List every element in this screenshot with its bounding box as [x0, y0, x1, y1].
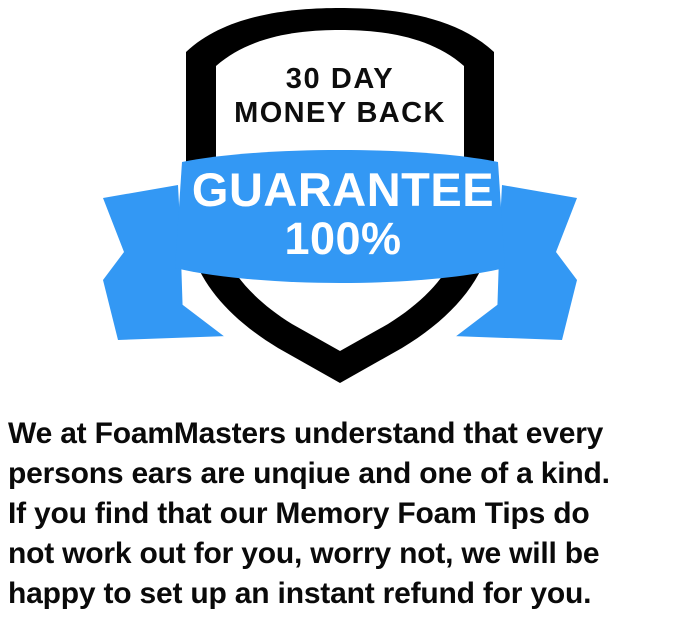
ribbon-label-percent: 100%: [284, 213, 401, 264]
copy-line: persons ears are unqiue and one of a kin…: [8, 454, 673, 494]
ribbon-label-guarantee: GUARANTEE: [192, 163, 494, 216]
badge-headline-line2: MONEY BACK: [234, 97, 446, 129]
guarantee-description: We at FoamMasters understand that every …: [0, 414, 679, 614]
copy-line: We at FoamMasters understand that every: [8, 414, 673, 454]
copy-line: happy to set up an instant refund for yo…: [8, 574, 673, 614]
badge-graphic: 30 DAY MONEY BACK GUARANTEE 100%: [0, 0, 679, 400]
copy-line: If you find that our Memory Foam Tips do: [8, 494, 673, 534]
guarantee-promo-page: 30 DAY MONEY BACK GUARANTEE 100% We at F…: [0, 0, 679, 621]
money-back-guarantee-badge: 30 DAY MONEY BACK GUARANTEE 100%: [0, 0, 679, 400]
copy-line: not work out for you, worry not, we will…: [8, 534, 673, 574]
badge-headline-line1: 30 DAY: [286, 63, 394, 95]
